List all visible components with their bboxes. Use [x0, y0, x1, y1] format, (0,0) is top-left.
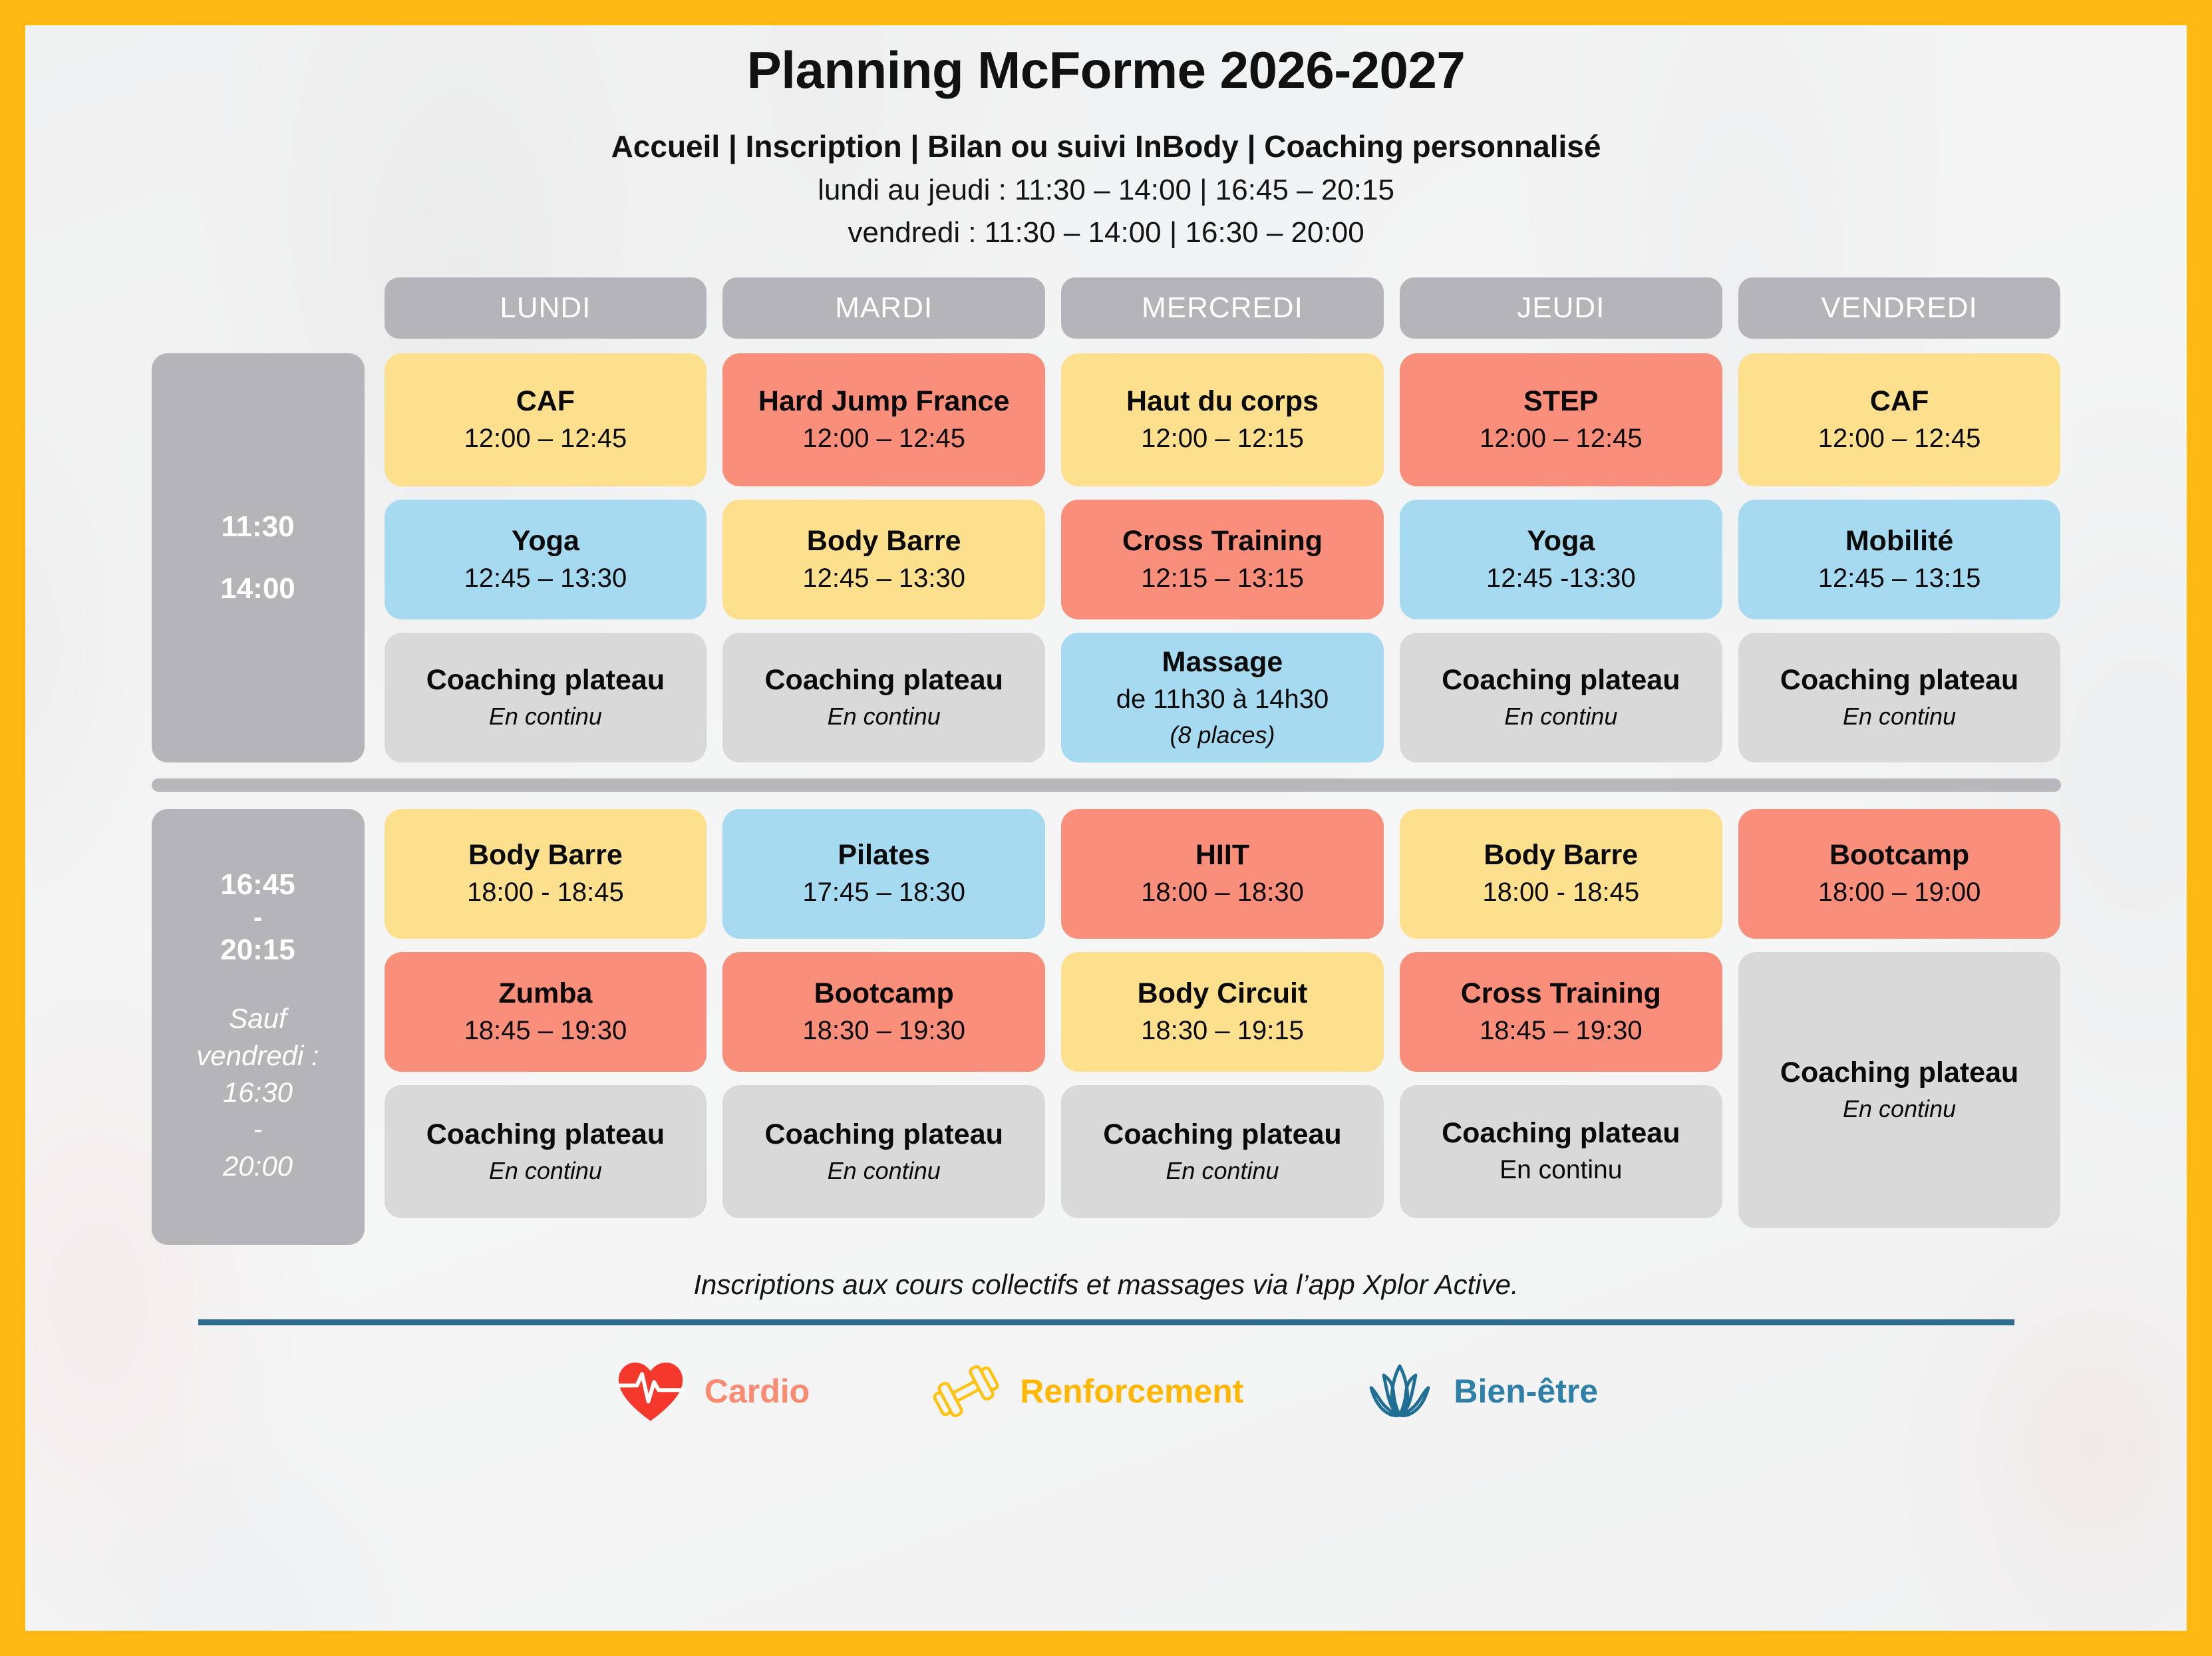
class-name: Hard Jump France — [758, 385, 1010, 418]
soir-end-time: 20:15 — [220, 935, 295, 965]
services-line: Accueil | Inscription | Bilan ou suivi I… — [25, 128, 2187, 164]
class-time: 12:00 – 12:15 — [1141, 423, 1304, 454]
class-note: En continu — [489, 702, 602, 731]
time-label-soir-col: 16:45 - 20:15 Saufvendredi :16:30-20:00 — [152, 809, 365, 1245]
schedule-poster: Planning McForme 2026-2027 Accueil | Ins… — [0, 0, 2212, 1656]
class-time: 12:45 – 13:30 — [464, 563, 627, 594]
lotus-icon — [1363, 1355, 1436, 1428]
soir-dash: - — [253, 900, 262, 935]
class-name: STEP — [1523, 385, 1598, 418]
hours-weekdays: lundi au jeudi : 11:30 – 14:00 | 16:45 –… — [25, 174, 2187, 207]
class-time: 12:45 – 13:15 — [1818, 563, 1981, 594]
legend-item-cardio: Cardio — [614, 1355, 810, 1428]
class-name: Cross Training — [1122, 525, 1323, 558]
class-time: 12:00 – 12:45 — [1480, 423, 1643, 454]
class-card[interactable]: Haut du corps 12:00 – 12:15 — [1061, 353, 1384, 486]
class-card[interactable]: Yoga 12:45 -13:30 — [1400, 500, 1722, 619]
class-name: Yoga — [512, 525, 579, 558]
class-time: de 11h30 à 14h30 — [1116, 684, 1329, 715]
class-time: 12:45 -13:30 — [1486, 563, 1636, 594]
class-name: Coaching plateau — [426, 1118, 665, 1151]
midi-end-time: 14:00 — [220, 574, 295, 604]
class-note: En continu — [828, 702, 941, 731]
day-header-jeudi: JEUDI — [1400, 277, 1722, 339]
column-soir-mardi: Pilates 17:45 – 18:30 Bootcamp 18:30 – 1… — [722, 809, 1045, 1245]
legend-item-renforcement: Renforcement — [929, 1355, 1243, 1428]
column-soir-vendredi: Bootcamp 18:00 – 19:00 Coaching plateau … — [1738, 809, 2061, 1245]
legend-item-bien-etre: Bien-être — [1363, 1355, 1598, 1428]
class-time: 12:00 – 12:45 — [802, 423, 965, 454]
class-note: En continu — [1166, 1156, 1279, 1185]
class-time: 18:00 - 18:45 — [1482, 877, 1639, 908]
class-name: Massage — [1162, 646, 1283, 679]
class-card[interactable]: Coaching plateau En continu — [1400, 633, 1722, 762]
class-card[interactable]: HIIT 18:00 – 18:30 — [1061, 809, 1384, 939]
class-name: Haut du corps — [1126, 385, 1319, 418]
class-card[interactable]: CAF 12:00 – 12:45 — [385, 353, 707, 486]
column-midi-lundi: CAF 12:00 – 12:45 Yoga 12:45 – 13:30 Coa… — [385, 353, 707, 762]
class-card[interactable]: Hard Jump France 12:00 – 12:45 — [722, 353, 1045, 486]
legend-label-cardio: Cardio — [705, 1372, 810, 1410]
class-card[interactable]: Coaching plateau En continu — [1738, 633, 2061, 762]
class-card[interactable]: Coaching plateau En continu — [1738, 952, 2061, 1228]
page-title: Planning McForme 2026-2027 — [25, 25, 2187, 100]
schedule-grid: LUNDI MARDI MERCREDI JEUDI VENDREDI 11:3… — [152, 277, 2061, 1245]
class-card[interactable]: Body Barre 12:45 – 13:30 — [722, 500, 1045, 619]
class-time: 18:45 – 19:30 — [464, 1015, 627, 1047]
column-midi-jeudi: STEP 12:00 – 12:45 Yoga 12:45 -13:30 Coa… — [1400, 353, 1722, 762]
class-time: 12:45 – 13:30 — [802, 563, 965, 594]
class-name: Yoga — [1527, 525, 1595, 558]
class-note: En continu — [1843, 1094, 1956, 1123]
class-name: Zumba — [498, 977, 592, 1010]
class-card[interactable]: Cross Training 18:45 – 19:30 — [1400, 952, 1722, 1072]
class-time: 12:15 – 13:15 — [1141, 563, 1304, 594]
block-soir: 16:45 - 20:15 Saufvendredi :16:30-20:00 … — [152, 809, 2061, 1245]
class-time: 18:00 - 18:45 — [467, 877, 624, 908]
soir-friday-note: Saufvendredi :16:30-20:00 — [196, 1000, 319, 1184]
class-name: Body Barre — [807, 525, 961, 558]
column-midi-mardi: Hard Jump France 12:00 – 12:45 Body Barr… — [722, 353, 1045, 762]
class-name: Body Barre — [468, 839, 623, 872]
legend-label-renforcement: Renforcement — [1020, 1372, 1243, 1410]
day-header-vendredi: VENDREDI — [1738, 277, 2061, 339]
class-name: Body Barre — [1484, 839, 1638, 872]
class-name: Mobilité — [1845, 525, 1953, 558]
class-time: 12:00 – 12:45 — [464, 423, 627, 454]
class-note: En continu — [1843, 702, 1956, 731]
class-card[interactable]: CAF 12:00 – 12:45 — [1738, 353, 2061, 486]
time-label-midi-col: 11:30 14:00 — [152, 353, 365, 762]
class-card[interactable]: Coaching plateau En continu — [385, 1085, 707, 1218]
class-name: Coaching plateau — [1103, 1118, 1341, 1151]
class-note: En continu — [1500, 1155, 1622, 1186]
column-soir-jeudi: Body Barre 18:00 - 18:45 Cross Training … — [1400, 809, 1722, 1245]
column-soir-mercredi: HIIT 18:00 – 18:30 Body Circuit 18:30 – … — [1061, 809, 1384, 1245]
legend: Cardio Renforcement — [25, 1355, 2187, 1428]
class-name: Cross Training — [1461, 977, 1661, 1010]
class-name: CAF — [1870, 385, 1929, 418]
class-name: Coaching plateau — [765, 664, 1003, 697]
class-name: CAF — [516, 385, 575, 418]
class-card[interactable]: Yoga 12:45 – 13:30 — [385, 500, 707, 619]
class-card[interactable]: Body Barre 18:00 - 18:45 — [1400, 809, 1722, 939]
class-note: En continu — [1504, 702, 1617, 731]
block-midi: 11:30 14:00 CAF 12:00 – 12:45 Yoga — [152, 353, 2061, 762]
class-note: En continu — [828, 1156, 941, 1185]
class-name: Coaching plateau — [1780, 1057, 2018, 1089]
class-name: Coaching plateau — [1442, 1117, 1680, 1150]
class-card[interactable]: Pilates 17:45 – 18:30 — [722, 809, 1045, 939]
timecol-spacer — [152, 277, 365, 339]
block-divider — [152, 778, 2061, 792]
registration-note: Inscriptions aux cours collectifs et mas… — [25, 1269, 2187, 1301]
class-card[interactable]: Massage de 11h30 à 14h30 (8 places) — [1061, 633, 1384, 762]
midi-start-time: 11:30 — [221, 512, 294, 542]
class-name: Pilates — [838, 839, 930, 872]
class-card[interactable]: Coaching plateau En continu — [1400, 1085, 1722, 1218]
class-name: Body Circuit — [1138, 977, 1308, 1010]
class-card[interactable]: Coaching plateau En continu — [722, 1085, 1045, 1218]
class-name: HIIT — [1195, 839, 1249, 872]
class-card[interactable]: Bootcamp 18:00 – 19:00 — [1738, 809, 2061, 939]
class-note: (8 places) — [1170, 721, 1275, 749]
class-time: 18:00 – 18:30 — [1141, 877, 1304, 908]
class-card[interactable]: Zumba 18:45 – 19:30 — [385, 952, 707, 1072]
class-time: 17:45 – 18:30 — [802, 877, 965, 908]
class-card[interactable]: Body Barre 18:00 - 18:45 — [385, 809, 707, 939]
time-pill-midi: 11:30 14:00 — [152, 353, 365, 762]
class-card[interactable]: Coaching plateau En continu — [722, 633, 1045, 762]
hours-friday: vendredi : 11:30 – 14:00 | 16:30 – 20:00 — [25, 216, 2187, 249]
class-name: Coaching plateau — [1442, 664, 1680, 697]
class-card[interactable]: STEP 12:00 – 12:45 — [1400, 353, 1722, 486]
class-name: Coaching plateau — [426, 664, 665, 697]
legend-label-bien-etre: Bien-être — [1454, 1372, 1598, 1410]
class-card[interactable]: Bootcamp 18:30 – 19:30 — [722, 952, 1045, 1072]
day-header-mercredi: MERCREDI — [1061, 277, 1384, 339]
class-card[interactable]: Cross Training 12:15 – 13:15 — [1061, 500, 1384, 619]
class-name: Bootcamp — [814, 977, 954, 1010]
day-header-mardi: MARDI — [722, 277, 1045, 339]
class-note: En continu — [489, 1156, 602, 1185]
legend-divider-rule — [198, 1319, 2014, 1325]
class-time: 12:00 – 12:45 — [1818, 423, 1981, 454]
class-name: Bootcamp — [1829, 839, 1969, 872]
class-time: 18:00 – 19:00 — [1818, 877, 1981, 908]
class-card[interactable]: Coaching plateau En continu — [385, 633, 707, 762]
class-name: Coaching plateau — [1780, 664, 2018, 697]
class-time: 18:30 – 19:30 — [802, 1015, 965, 1047]
class-card[interactable]: Mobilité 12:45 – 13:15 — [1738, 500, 2061, 619]
class-name: Coaching plateau — [765, 1118, 1003, 1151]
class-time: 18:30 – 19:15 — [1141, 1015, 1304, 1047]
heart-pulse-icon — [614, 1355, 687, 1428]
soir-start-time: 16:45 — [220, 870, 295, 900]
class-card[interactable]: Coaching plateau En continu — [1061, 1085, 1384, 1218]
time-pill-soir: 16:45 - 20:15 Saufvendredi :16:30-20:00 — [152, 809, 365, 1245]
dumbbell-icon — [929, 1355, 1003, 1428]
column-soir-lundi: Body Barre 18:00 - 18:45 Zumba 18:45 – 1… — [385, 809, 707, 1245]
day-header-lundi: LUNDI — [385, 277, 707, 339]
day-header-row: LUNDI MARDI MERCREDI JEUDI VENDREDI — [152, 277, 2061, 339]
class-time: 18:45 – 19:30 — [1480, 1015, 1643, 1047]
class-card[interactable]: Body Circuit 18:30 – 19:15 — [1061, 952, 1384, 1072]
column-midi-mercredi: Haut du corps 12:00 – 12:15 Cross Traini… — [1061, 353, 1384, 762]
column-midi-vendredi: CAF 12:00 – 12:45 Mobilité 12:45 – 13:15… — [1738, 353, 2061, 762]
